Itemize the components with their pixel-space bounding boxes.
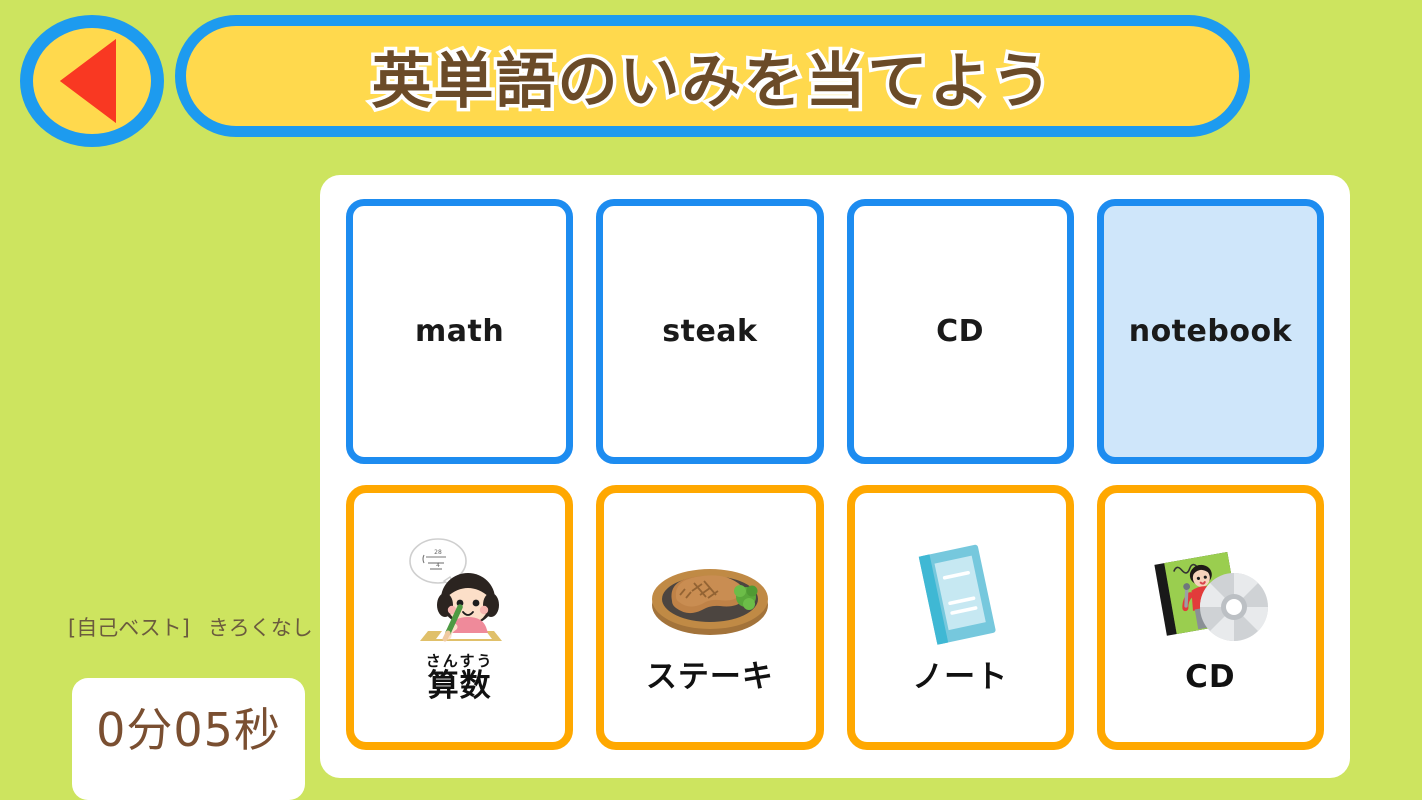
svg-text:4: 4: [436, 562, 440, 569]
word-card-label: CD: [936, 314, 984, 349]
word-card-label: notebook: [1129, 314, 1292, 349]
answer-card-math[interactable]: 28 4: [346, 485, 573, 750]
back-triangle-icon: [60, 39, 116, 123]
timer-box: 0分05秒: [72, 678, 305, 800]
word-card-notebook[interactable]: notebook: [1097, 199, 1324, 464]
notebook-icon: [908, 542, 1012, 652]
answer-card-cd[interactable]: CD: [1097, 485, 1324, 750]
answer-card-label: CD: [1185, 662, 1235, 693]
word-card-label: steak: [662, 314, 757, 349]
timer-value: 0分05秒: [96, 694, 281, 760]
answer-card-furigana: さんすう: [426, 654, 494, 669]
answer-card-steak[interactable]: ステーキ: [596, 485, 823, 750]
word-card-steak[interactable]: steak: [596, 199, 823, 464]
title-banner: 英単語のいみを当てよう: [175, 15, 1250, 137]
cards-panel: math steak CD notebook: [320, 175, 1350, 778]
steak-plate-icon: [646, 542, 774, 652]
game-screen: 英単語のいみを当てよう math steak CD notebook: [0, 0, 1422, 800]
answer-card-text: CD: [1185, 662, 1235, 693]
best-score-value: きろくなし: [208, 616, 313, 640]
cd-disc-icon: [1146, 542, 1274, 652]
answer-card-notebook[interactable]: ノート: [847, 485, 1074, 750]
svg-text:28: 28: [434, 549, 442, 556]
answer-card-text: ステーキ: [646, 662, 774, 693]
word-card-cd[interactable]: CD: [847, 199, 1074, 464]
back-button[interactable]: [20, 15, 164, 147]
page-title: 英単語のいみを当てよう: [372, 33, 1054, 120]
cards-grid: math steak CD notebook: [346, 199, 1324, 750]
best-score-label: [自己ベスト]: [68, 616, 190, 640]
best-score: [自己ベスト]きろくなし: [68, 612, 313, 642]
answer-card-text: ノート: [912, 662, 1008, 693]
answer-card-label: ノート: [912, 662, 1008, 693]
word-card-math[interactable]: math: [346, 199, 573, 464]
answer-card-text: さんすう 算数: [426, 654, 494, 702]
word-card-label: math: [415, 314, 504, 349]
answer-card-label: 算数: [426, 671, 494, 702]
girl-doing-math-icon: 28 4: [402, 534, 518, 644]
answer-card-label: ステーキ: [646, 662, 774, 693]
answer-card-row: 28 4: [346, 485, 1324, 750]
word-card-row: math steak CD notebook: [346, 199, 1324, 464]
